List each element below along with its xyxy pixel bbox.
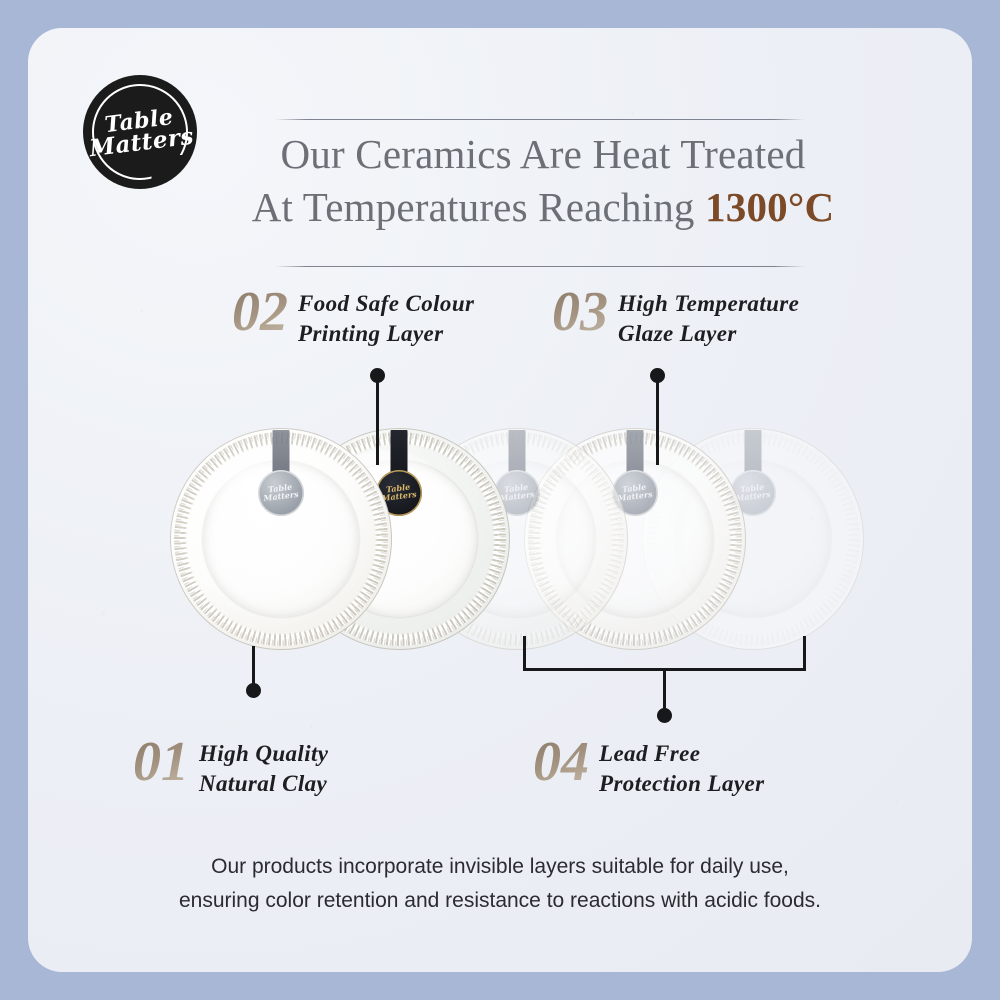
infographic-poster: Table Matters Our Ceramics Are Heat Trea…: [0, 0, 1000, 1000]
callout-01-line-1: High Quality: [199, 741, 328, 766]
callout-04-text: Lead Free Protection Layer: [599, 736, 764, 799]
footer-caption-line-1: Our products incorporate invisible layer…: [68, 850, 932, 884]
callout-04: 04 Lead Free Protection Layer: [533, 736, 764, 799]
callout-02: 02 Food Safe Colour Printing Layer: [232, 286, 474, 349]
callout-03-line-1: High Temperature: [618, 291, 799, 316]
footer-caption: Our products incorporate invisible layer…: [68, 850, 932, 918]
plate-1-hangtag-text: TableMatters: [263, 483, 300, 502]
callout-01-number: 01: [133, 736, 199, 790]
callout-01-text: High Quality Natural Clay: [199, 736, 328, 799]
plate-1: TableMatters: [170, 428, 392, 650]
connector-line-03: [656, 375, 659, 465]
callout-03-text: High Temperature Glaze Layer: [618, 286, 799, 349]
callout-01-line-2: Natural Clay: [199, 771, 327, 796]
table-matters-logo: Table Matters: [83, 75, 197, 189]
callout-03: 03 High Temperature Glaze Layer: [552, 286, 799, 349]
footer-caption-line-2: ensuring color retention and resistance …: [68, 884, 932, 918]
plate-2-hangtag-text: TableMatters: [381, 483, 418, 502]
callout-04-line-2: Protection Layer: [599, 771, 764, 796]
callout-02-line-1: Food Safe Colour: [298, 291, 474, 316]
callout-04-number: 04: [533, 736, 599, 790]
callout-01: 01 High Quality Natural Clay: [133, 736, 328, 799]
callout-02-text: Food Safe Colour Printing Layer: [298, 286, 474, 349]
callout-02-line-2: Printing Layer: [298, 321, 444, 346]
poster-card: Table Matters Our Ceramics Are Heat Trea…: [28, 28, 972, 972]
connector-dot-01: [246, 683, 261, 698]
connector-line-02: [376, 375, 379, 465]
connector-dot-04: [657, 708, 672, 723]
connector-dot-02: [370, 368, 385, 383]
plate-5-hangtag-text: TableMatters: [735, 483, 772, 502]
plate-3-hangtag-text: TableMatters: [499, 483, 536, 502]
callout-03-number: 03: [552, 286, 618, 340]
plate-1-hangtag-disc: TableMatters: [258, 470, 304, 516]
connector-bracket-04-left: [523, 636, 526, 670]
plate-4-hangtag-text: TableMatters: [617, 483, 654, 502]
callout-02-number: 02: [232, 286, 298, 340]
callout-04-line-1: Lead Free: [599, 741, 700, 766]
connector-dot-03: [650, 368, 665, 383]
callout-03-line-2: Glaze Layer: [618, 321, 737, 346]
connector-bracket-04-right: [803, 636, 806, 670]
